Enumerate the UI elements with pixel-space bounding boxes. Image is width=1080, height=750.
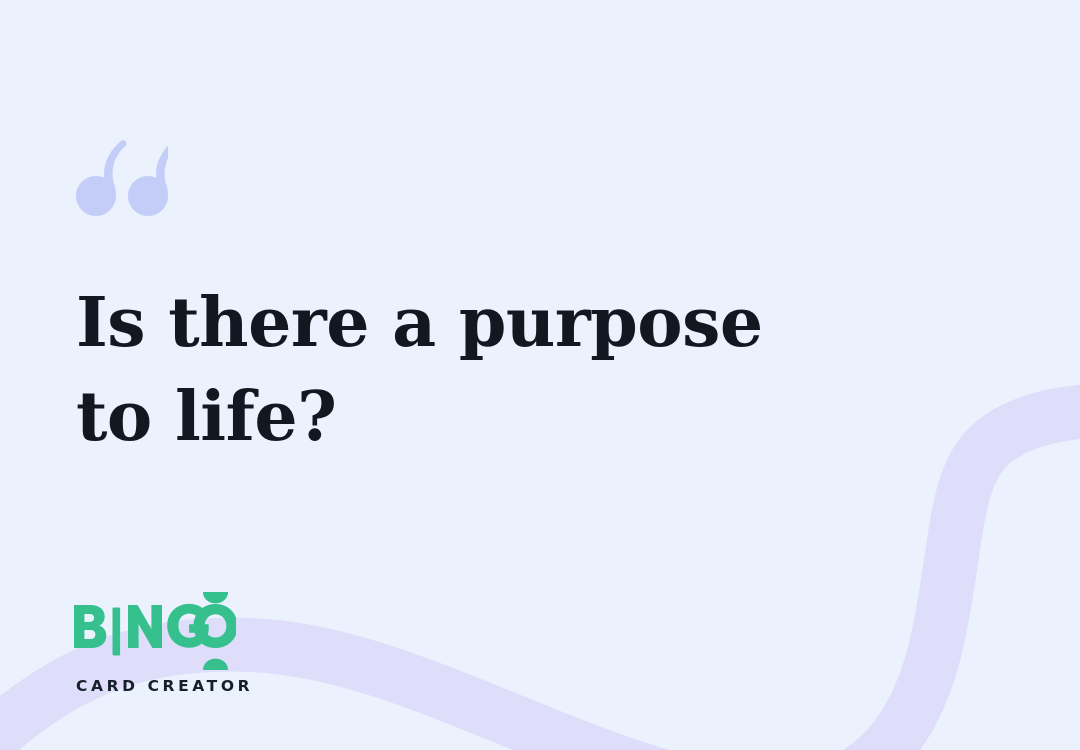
quote-card: Is there a purpose to life? CA <box>0 0 1080 750</box>
arc-dome-ornament <box>203 659 228 670</box>
double-quote-open-icon <box>76 138 168 216</box>
arc-cup-ornament <box>203 592 228 603</box>
page-title: Is there a purpose to life? <box>76 276 776 464</box>
headline-line-2: to life? <box>76 370 776 464</box>
bingo-wordmark <box>74 592 236 670</box>
logo[interactable]: CARD CREATOR <box>74 592 253 695</box>
headline-line-1: Is there a purpose <box>76 276 776 370</box>
logo-tagline: CARD CREATOR <box>76 677 253 695</box>
